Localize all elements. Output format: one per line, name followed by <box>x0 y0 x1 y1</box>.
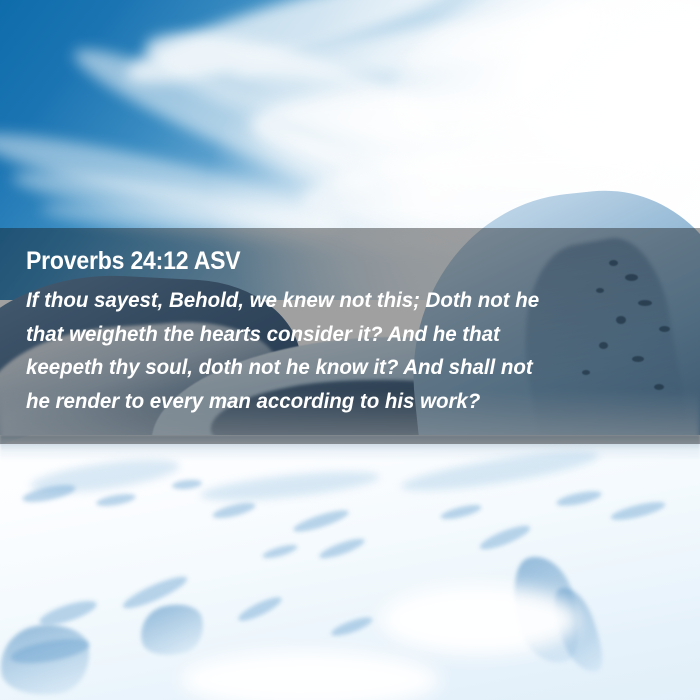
cirrus-cloud-streak <box>366 0 634 172</box>
cirrus-cloud-streak <box>248 81 673 196</box>
cirrus-cloud-streak <box>65 31 386 209</box>
foreground-snowfield <box>0 435 700 700</box>
snow-sun-glare <box>380 585 580 655</box>
verse-line: that weigheth the hearts consider it? An… <box>26 318 675 352</box>
verse-text-overlay: Proverbs 24:12 ASV If thou sayest, Behol… <box>0 228 700 444</box>
verse-image-canvas: Proverbs 24:12 ASV If thou sayest, Behol… <box>0 0 700 700</box>
verse-line: he render to every man according to his … <box>26 385 675 419</box>
verse-reference: Proverbs 24:12 ASV <box>26 246 622 276</box>
cirrus-cloud-streak <box>136 12 444 162</box>
cirrus-cloud-streak <box>229 1 651 92</box>
verse-line: If thou sayest, Behold, we knew not this… <box>26 284 675 318</box>
cirrus-cloud-streak <box>0 118 350 244</box>
verse-body: If thou sayest, Behold, we knew not this… <box>26 284 675 418</box>
cirrus-cloud-streak <box>119 0 461 102</box>
verse-line: keepeth thy soul, doth not he know it? A… <box>26 351 675 385</box>
